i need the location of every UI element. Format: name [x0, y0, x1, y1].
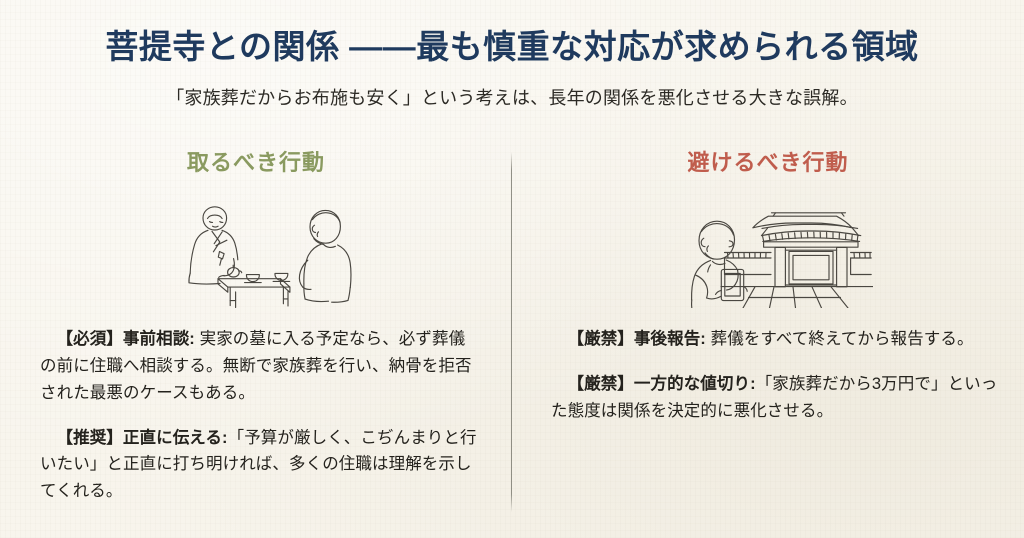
page-title: 菩提寺との関係 ——最も慎重な対応が求められる領域 — [0, 26, 1024, 67]
slide-canvas: 菩提寺との関係 ——最も慎重な対応が求められる領域 「家族葬だからお布施も安く」… — [0, 0, 1024, 538]
column-heading-do: 取るべき行動 — [187, 150, 325, 176]
list-item: 【厳禁】事後報告: 葬儀をすべて終えてから報告する。 — [551, 326, 1003, 353]
column-do: 取るべき行動 — [0, 150, 512, 505]
column-body-do: 【必須】事前相談: 実家の墓に入る予定なら、必ず葬儀の前に住職へ相談する。無断で… — [32, 326, 480, 504]
item-lead: 【厳禁】一方的な値切り: — [568, 375, 756, 393]
comparison-columns: 取るべき行動 — [0, 150, 1024, 505]
page-subtitle: 「家族葬だからお布施も安く」という考えは、長年の関係を悪化させる大きな誤解。 — [0, 84, 1024, 110]
list-item: 【推奨】正直に伝える:「予算が厳しく、こぢんまりと行いたい」と正直に打ち明ければ… — [40, 425, 480, 505]
person-smartphone-temple-gate-illustration — [663, 188, 873, 308]
column-avoid: 避けるべき行動 — [512, 150, 1024, 505]
slide-header: 菩提寺との関係 ——最も慎重な対応が求められる領域 「家族葬だからお布施も安く」… — [0, 26, 1024, 110]
item-lead: 【厳禁】事後報告: — [568, 330, 706, 348]
list-item: 【必須】事前相談: 実家の墓に入る予定なら、必ず葬儀の前に住職へ相談する。無断で… — [40, 326, 480, 406]
column-body-avoid: 【厳禁】事後報告: 葬儀をすべて終えてから報告する。 【厳禁】一方的な値切り:「… — [533, 326, 1003, 424]
column-heading-avoid: 避けるべき行動 — [687, 150, 848, 176]
item-text: 葬儀をすべて終えてから報告する。 — [706, 330, 974, 348]
list-item: 【厳禁】一方的な値切り:「家族葬だから3万円で」といった態度は関係を決定的に悪化… — [551, 371, 1003, 424]
monk-consultation-illustration — [151, 188, 361, 308]
item-lead: 【推奨】正直に伝える: — [57, 429, 228, 447]
item-lead: 【必須】事前相談: — [57, 330, 195, 348]
